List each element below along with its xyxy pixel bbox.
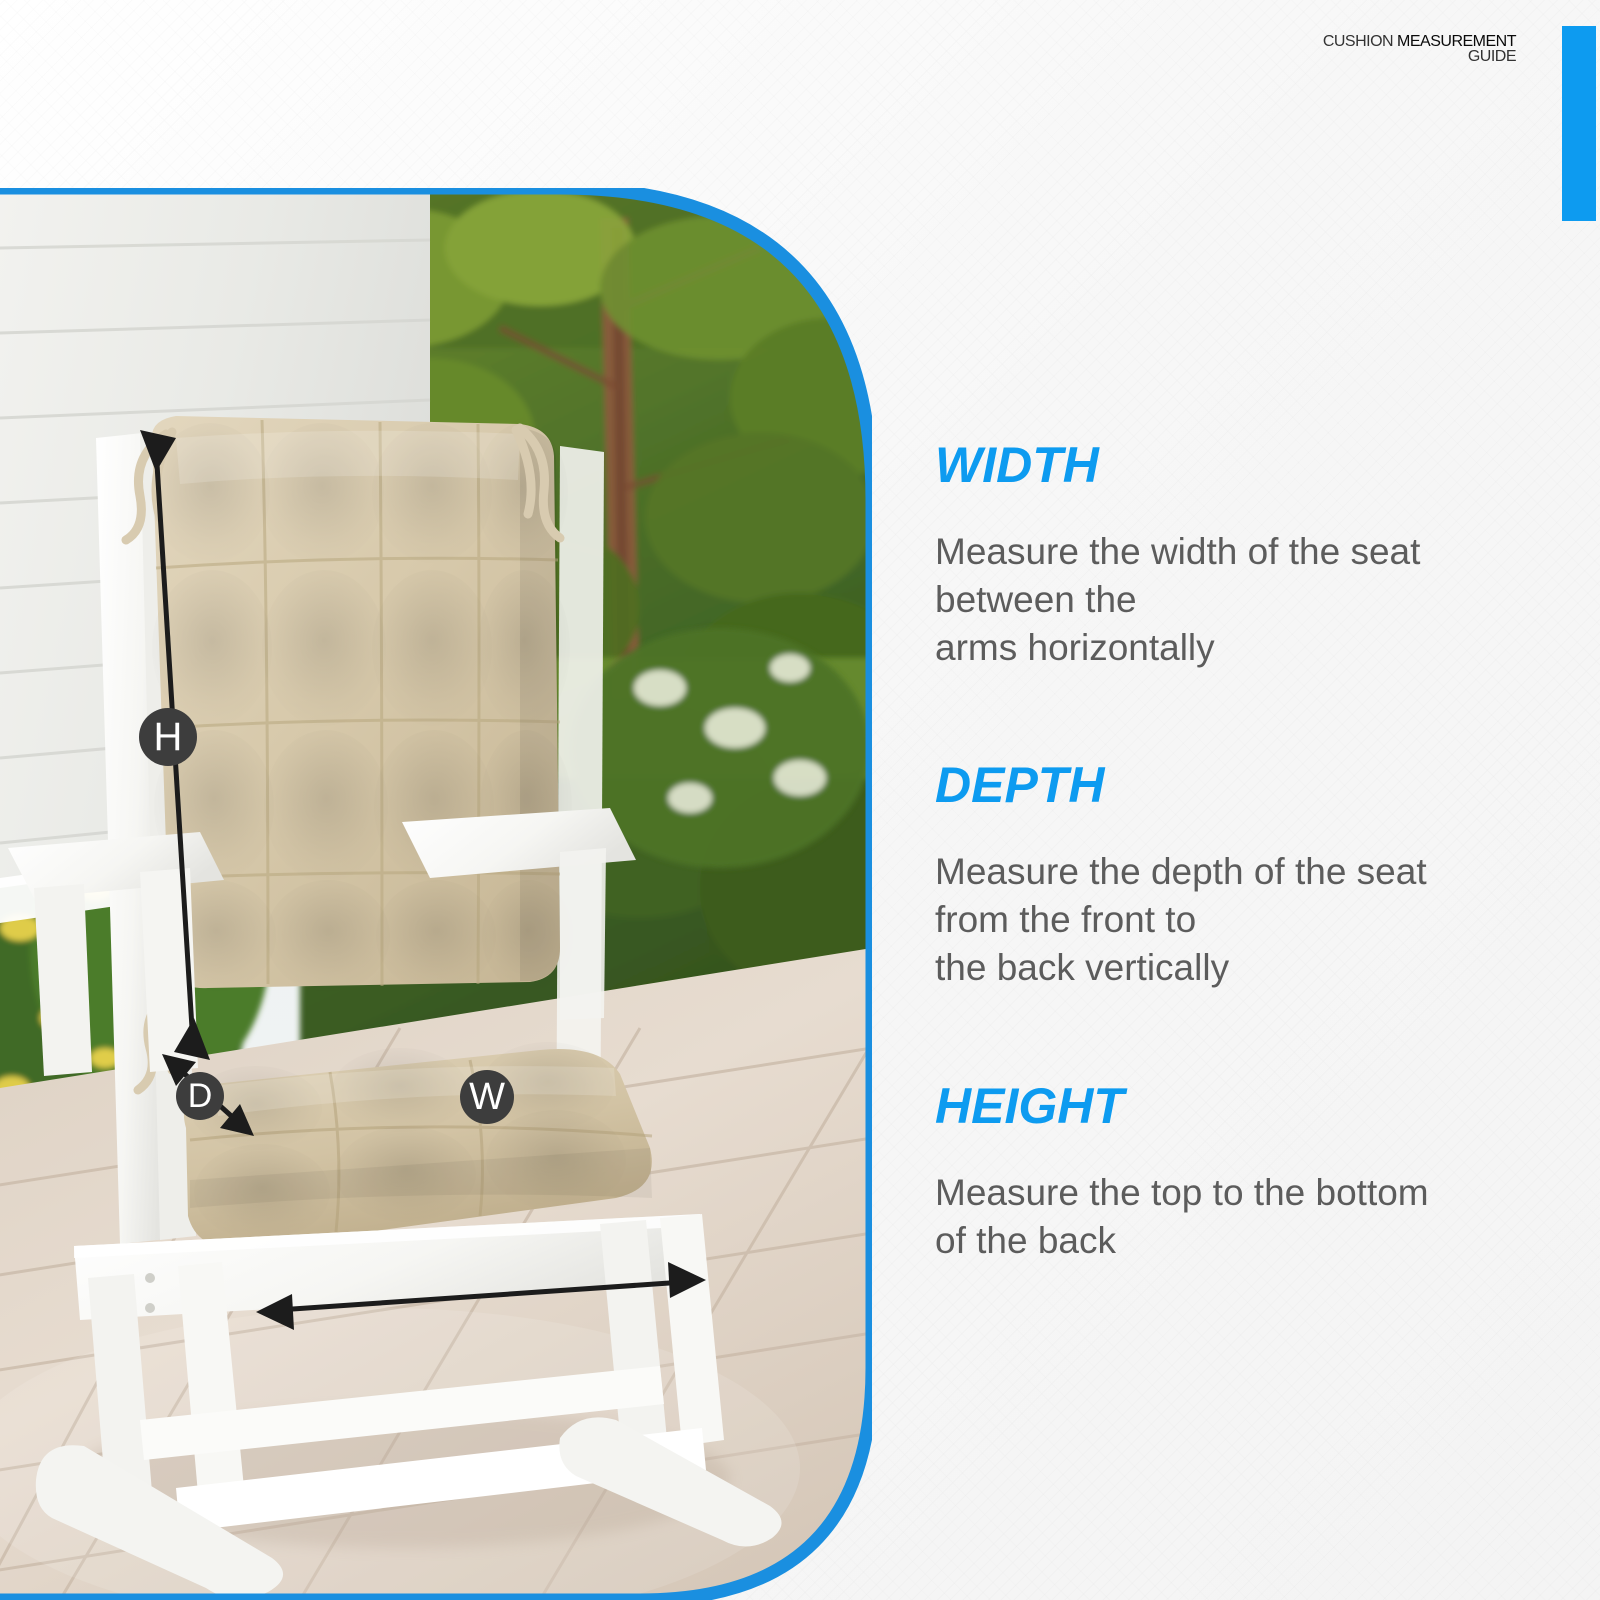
marker-w: W	[460, 1070, 514, 1124]
section-width-body: Measure the width of the seat between th…	[935, 528, 1535, 672]
section-width-heading: WIDTH	[935, 440, 1535, 490]
accent-bar	[1562, 26, 1596, 221]
marker-w-label: W	[469, 1076, 505, 1118]
section-depth-heading: DEPTH	[935, 760, 1535, 810]
page-title-line-2: GUIDE	[300, 49, 1516, 64]
measurement-sections: WIDTH Measure the width of the seat betw…	[935, 440, 1535, 1265]
product-photo: H D W	[0, 188, 872, 1600]
section-height-body: Measure the top to the bottom of the bac…	[935, 1169, 1535, 1265]
page-title-cushion: CUSHION	[1323, 33, 1397, 50]
section-width: WIDTH Measure the width of the seat betw…	[935, 440, 1535, 672]
section-depth-body: Measure the depth of the seat from the f…	[935, 848, 1535, 992]
product-photo-panel: H D W	[0, 188, 872, 1600]
marker-d-label: D	[188, 1077, 213, 1115]
page-title-line-1: CUSHION MEASUREMENT	[300, 34, 1516, 49]
page-header: CUSHION MEASUREMENT GUIDE	[300, 34, 1516, 65]
section-depth: DEPTH Measure the depth of the seat from…	[935, 760, 1535, 992]
section-height: HEIGHT Measure the top to the bottom of …	[935, 1081, 1535, 1265]
section-height-heading: HEIGHT	[935, 1081, 1535, 1131]
marker-h: H	[139, 708, 197, 766]
marker-d: D	[176, 1072, 224, 1120]
marker-h-label: H	[154, 715, 183, 759]
